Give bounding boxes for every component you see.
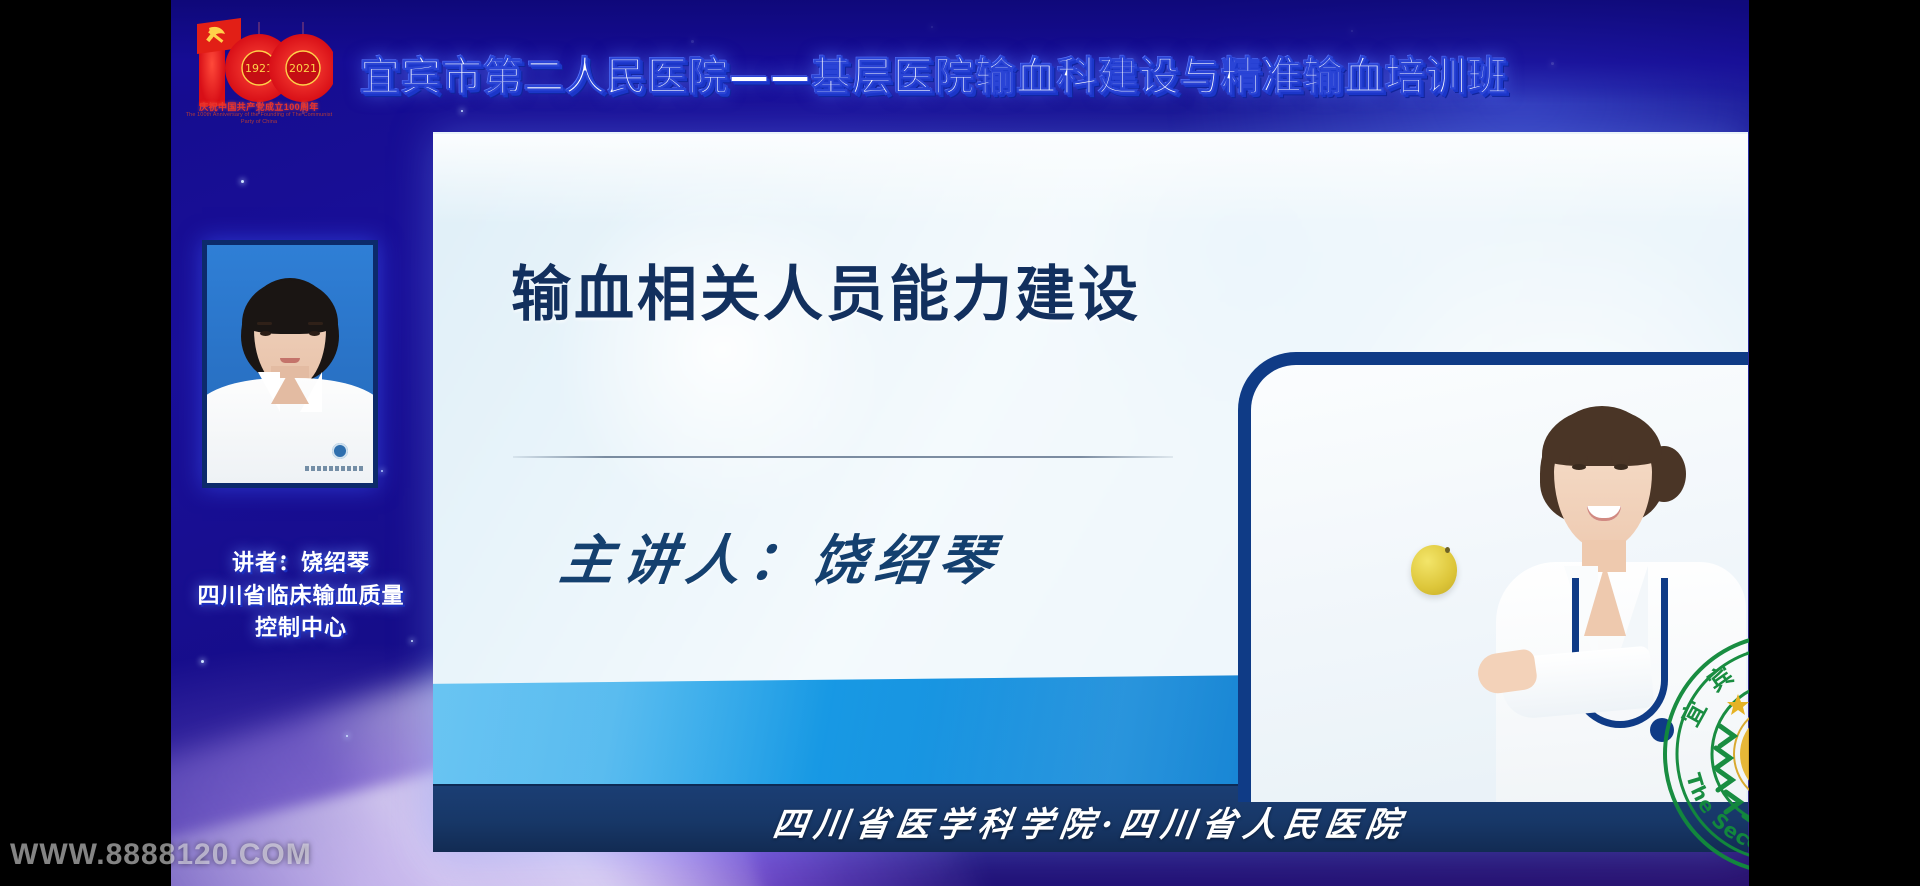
site-watermark: WWW.8888120.COM bbox=[10, 838, 312, 872]
speaker-info-block: 讲者：饶绍琴 四川省临床输血质量 控制中心 bbox=[171, 548, 431, 646]
lemon-icon bbox=[1411, 545, 1457, 595]
logo-year-end-text: 2021 bbox=[289, 62, 317, 75]
event-title: 宜宾市第二人民医院——基层医院输血科建设与精准输血培训班 bbox=[360, 44, 1508, 102]
slide-footer-text: 四川省医学科学院·四川省人民医院 bbox=[433, 797, 1748, 846]
slide-top-fade bbox=[433, 134, 1748, 224]
speaker-org-line-1: 四川省临床输血质量 bbox=[171, 581, 431, 614]
speaker-portrait-frame bbox=[202, 240, 378, 488]
letterbox-bar-right bbox=[1749, 0, 1920, 886]
logo-caption-en: The 100th Anniversary of the Founding of… bbox=[183, 112, 335, 127]
slide-title: 输血相关人员能力建设 bbox=[511, 246, 1141, 333]
speaker-org-line-2: 控制中心 bbox=[171, 613, 431, 646]
screen-capture: 1921 2021 庆祝中国共产党成立100周年 The 100th Anniv… bbox=[0, 0, 1920, 886]
letterbox-bar-left bbox=[0, 0, 171, 886]
speaker-name-line: 讲者：饶绍琴 bbox=[171, 548, 431, 581]
logo-year-start-text: 1921 bbox=[245, 62, 273, 75]
presentation-slide: 输血相关人员能力建设 主讲人：饶绍琴 bbox=[433, 132, 1748, 852]
slide-divider-line bbox=[513, 456, 1173, 458]
speaker-portrait bbox=[207, 245, 373, 483]
slide-presenter: 主讲人：饶绍琴 bbox=[556, 516, 1007, 595]
